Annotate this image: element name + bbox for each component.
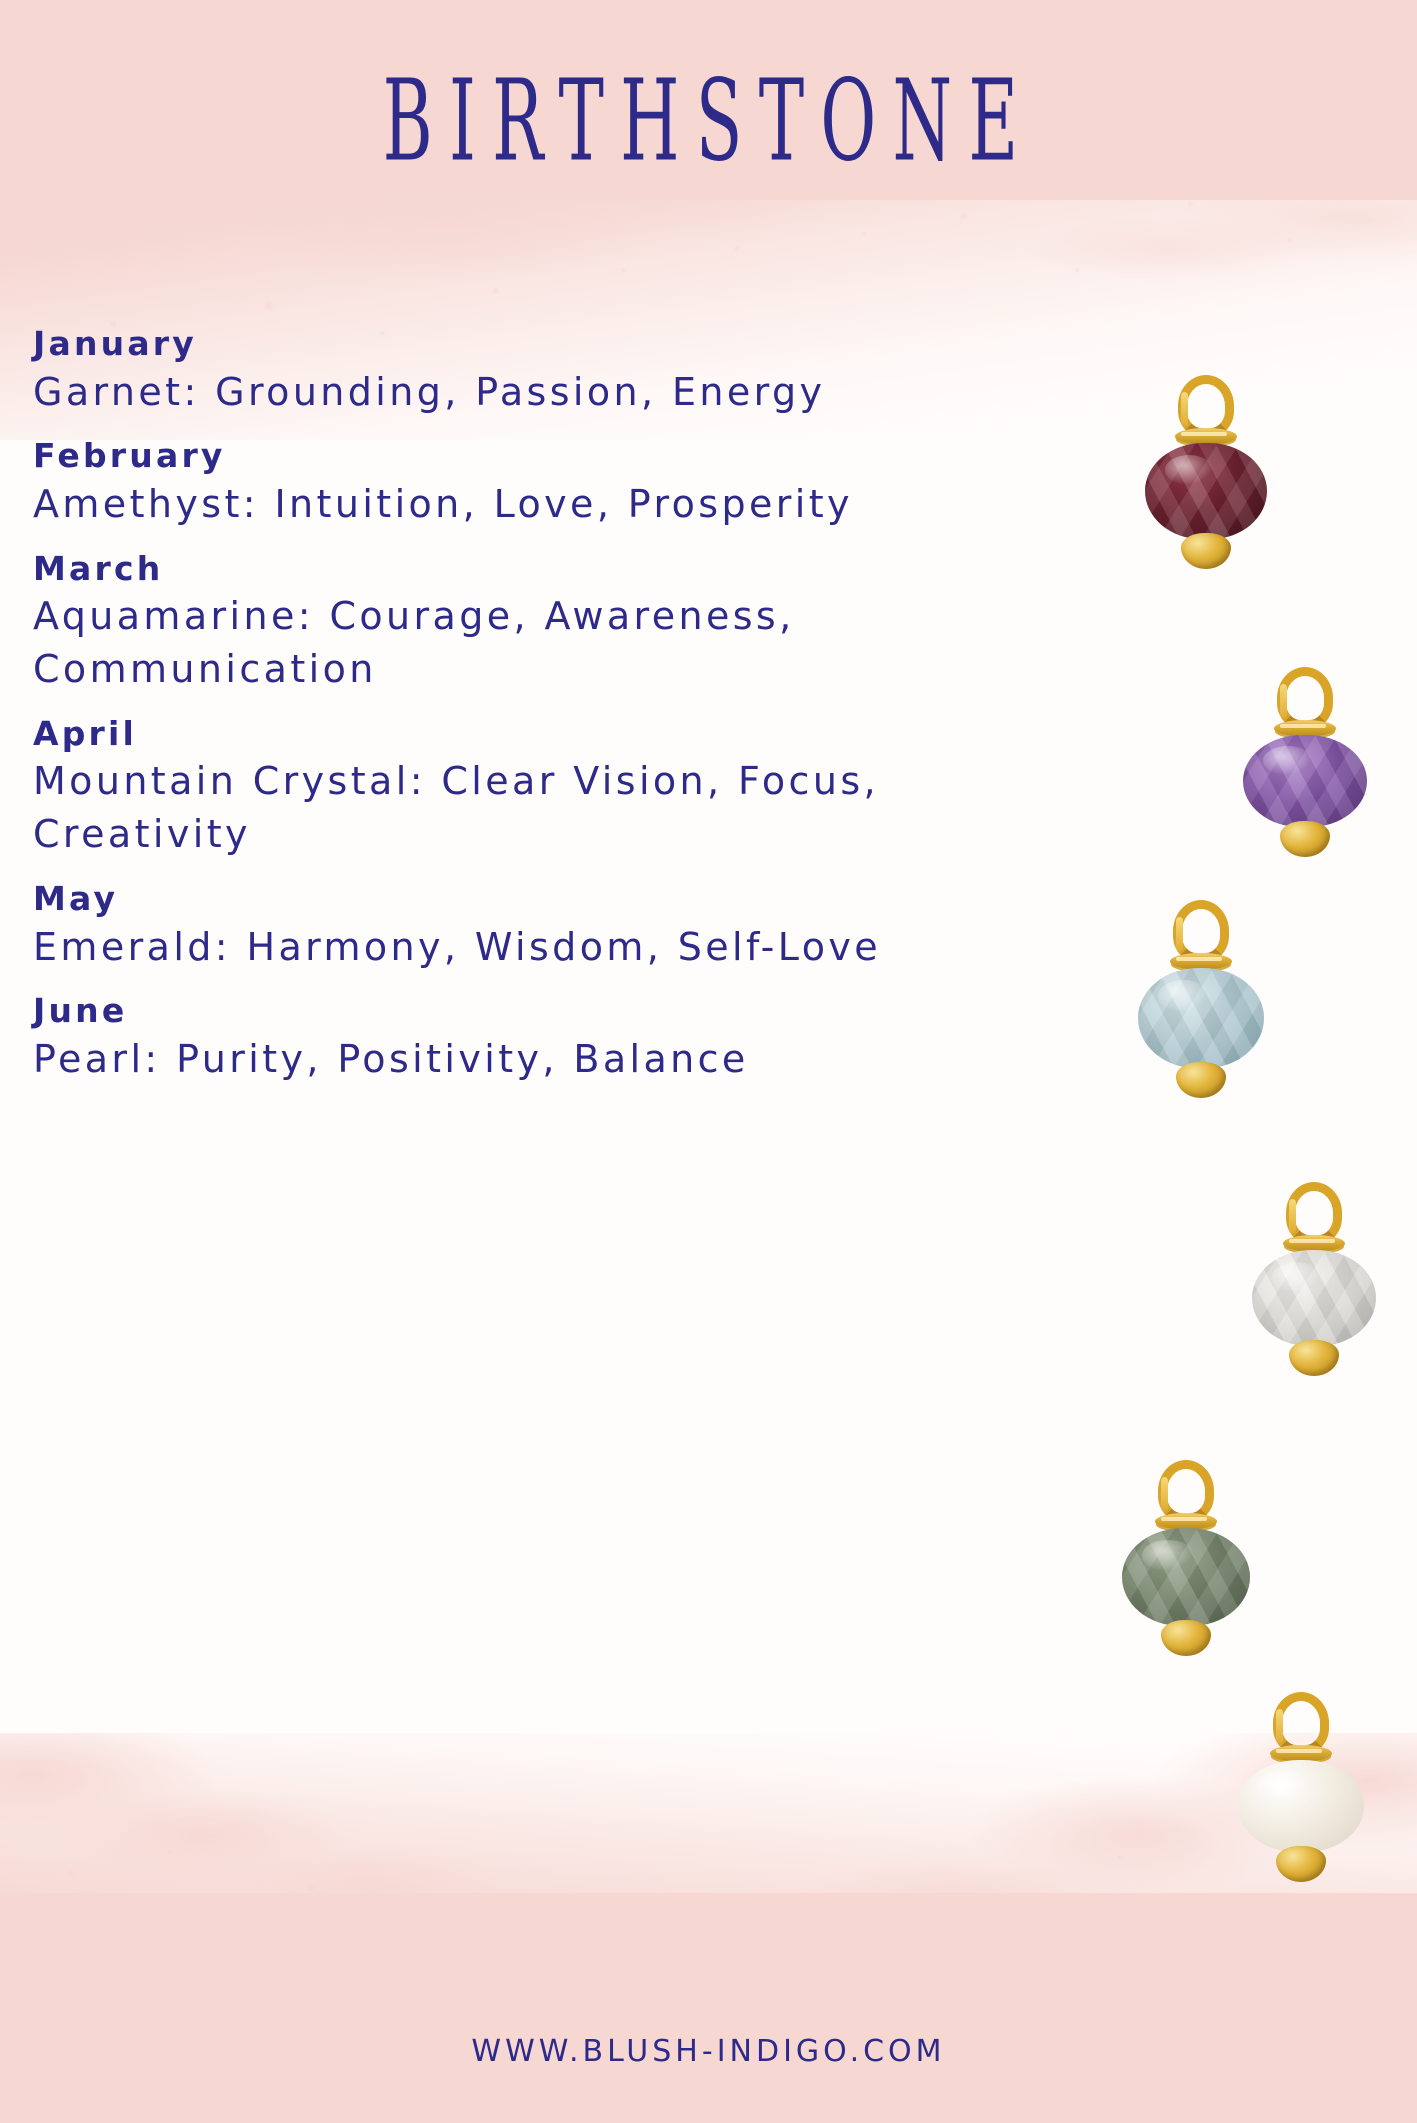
stone-description-may: Emerald: Harmony, Wisdom, Self-Love [33,921,938,974]
amethyst-bead-icon [1243,735,1367,827]
charm-gold-cap-icon [1161,1620,1211,1656]
birthstone-list: January Garnet: Grounding, Passion, Ener… [33,322,953,1102]
charm-gold-cap-icon [1289,1340,1339,1376]
charm-gold-cap-icon [1276,1846,1326,1882]
stone-description-april: Mountain Crystal: Clear Vision, Focus, C… [33,755,938,861]
website-footer: WWW.BLUSH-INDIGO.COM [0,2034,1417,2069]
month-label-april: April [33,712,953,756]
month-label-january: January [33,322,953,366]
list-item: January Garnet: Grounding, Passion, Ener… [33,322,953,418]
stone-description-june: Pearl: Purity, Positivity, Balance [33,1033,938,1086]
pearl-bead-icon [1238,1760,1364,1852]
garnet-charm [1145,375,1267,569]
aquamarine-bead-icon [1138,968,1264,1068]
paint-bottom-edge [0,1733,1417,2033]
emerald-charm [1122,1460,1250,1656]
mountain-crystal-charm [1252,1182,1376,1376]
charm-gold-cap-icon [1280,821,1330,857]
list-item: March Aquamarine: Courage, Awareness, Co… [33,547,953,696]
month-label-may: May [33,877,953,921]
aquamarine-charm [1138,900,1264,1098]
amethyst-charm [1243,667,1367,857]
page-title: BIRTHSTONE [184,56,1233,187]
stone-description-march: Aquamarine: Courage, Awareness, Communic… [33,590,938,696]
list-item: June Pearl: Purity, Positivity, Balance [33,989,953,1085]
pearl-charm [1238,1692,1364,1882]
stone-description-january: Garnet: Grounding, Passion, Energy [33,366,938,419]
paint-bottom-speckle [0,1753,1417,2013]
mountain-crystal-bead-icon [1252,1250,1376,1346]
list-item: April Mountain Crystal: Clear Vision, Fo… [33,712,953,861]
month-label-march: March [33,547,953,591]
list-item: February Amethyst: Intuition, Love, Pros… [33,434,953,530]
stone-description-february: Amethyst: Intuition, Love, Prosperity [33,478,938,531]
charm-gold-cap-icon [1181,533,1231,569]
charm-gold-cap-icon [1176,1062,1226,1098]
month-label-february: February [33,434,953,478]
emerald-bead-icon [1122,1528,1250,1626]
garnet-bead-icon [1145,443,1267,539]
month-label-june: June [33,989,953,1033]
birthstone-poster: BIRTHSTONE January Garnet: Grounding, Pa… [0,0,1417,2123]
list-item: May Emerald: Harmony, Wisdom, Self-Love [33,877,953,973]
